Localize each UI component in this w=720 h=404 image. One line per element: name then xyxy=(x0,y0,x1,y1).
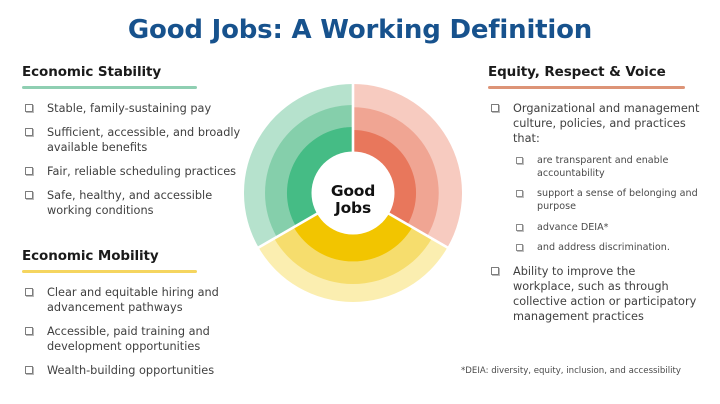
list-item: Fair, reliable scheduling practices xyxy=(22,164,250,179)
list-item-label: Accessible, paid training and developmen… xyxy=(47,325,210,353)
page-title: Good Jobs: A Working Definition xyxy=(0,16,720,45)
list-item-label: are transparent and enable accountabilit… xyxy=(537,155,668,179)
list-item-label: Safe, healthy, and accessible working co… xyxy=(47,189,212,217)
checkbox-bullet-icon xyxy=(25,104,33,112)
section-economic-mobility: Economic Mobility Clear and equitable hi… xyxy=(22,248,250,378)
list-equity-respect-voice: Organizational and management culture, p… xyxy=(488,101,700,324)
list-item: Safe, healthy, and accessible working co… xyxy=(22,188,250,218)
donut-center-hub xyxy=(312,152,395,235)
right-column: Equity, Respect & Voice Organizational a… xyxy=(488,64,700,324)
list-item: Accessible, paid training and developmen… xyxy=(22,324,250,354)
list-item-label: Stable, family-sustaining pay xyxy=(47,102,211,115)
sublist-equity-practices: are transparent and enable accountabilit… xyxy=(513,155,700,255)
list-item-label: support a sense of belonging and purpose xyxy=(537,188,698,212)
checkbox-bullet-icon xyxy=(25,327,33,335)
checkbox-bullet-icon xyxy=(491,267,499,275)
checkbox-bullet-icon xyxy=(491,104,499,112)
list-item-label: Sufficient, accessible, and broadly avai… xyxy=(47,126,240,154)
section-title-equity-respect-voice: Equity, Respect & Voice xyxy=(488,64,700,80)
list-item: are transparent and enable accountabilit… xyxy=(513,155,700,180)
checkbox-bullet-icon xyxy=(516,157,523,164)
list-item: Organizational and management culture, p… xyxy=(488,101,700,255)
section-title-economic-mobility: Economic Mobility xyxy=(22,248,250,264)
list-item: support a sense of belonging and purpose xyxy=(513,188,700,213)
spacer xyxy=(22,218,250,248)
footnote-deia: *DEIA: diversity, equity, inclusion, and… xyxy=(440,366,702,376)
list-item: advance DEIA* xyxy=(513,222,700,235)
list-item-label: and address discrimination. xyxy=(537,242,670,253)
list-item-label: Organizational and management culture, p… xyxy=(513,102,699,145)
section-economic-stability: Economic Stability Stable, family-sustai… xyxy=(22,64,250,218)
checkbox-bullet-icon xyxy=(516,190,523,197)
checkbox-bullet-icon xyxy=(25,167,33,175)
checkbox-bullet-icon xyxy=(25,288,33,296)
checkbox-bullet-icon xyxy=(25,128,33,136)
list-item: Wealth-building opportunities xyxy=(22,363,250,378)
section-rule-orange xyxy=(488,86,685,89)
list-economic-stability: Stable, family-sustaining pay Sufficient… xyxy=(22,101,250,218)
checkbox-bullet-icon xyxy=(25,191,33,199)
list-item-label: Wealth-building opportunities xyxy=(47,364,214,377)
section-title-economic-stability: Economic Stability xyxy=(22,64,250,80)
list-item-label: Clear and equitable hiring and advanceme… xyxy=(47,286,219,314)
list-item: and address discrimination. xyxy=(513,242,700,255)
section-equity-respect-voice: Equity, Respect & Voice Organizational a… xyxy=(488,64,700,324)
list-item-label: Ability to improve the workplace, such a… xyxy=(513,265,696,323)
good-jobs-donut-chart: Good Jobs xyxy=(244,84,462,316)
donut-chart-svg xyxy=(244,84,462,316)
list-item: Stable, family-sustaining pay xyxy=(22,101,250,116)
list-item-label: advance DEIA* xyxy=(537,222,608,233)
list-item: Sufficient, accessible, and broadly avai… xyxy=(22,125,250,155)
list-item: Ability to improve the workplace, such a… xyxy=(488,264,700,324)
checkbox-bullet-icon xyxy=(516,224,523,231)
checkbox-bullet-icon xyxy=(25,366,33,374)
left-column: Economic Stability Stable, family-sustai… xyxy=(22,64,250,378)
list-item: Clear and equitable hiring and advanceme… xyxy=(22,285,250,315)
section-rule-yellow xyxy=(22,270,197,273)
list-economic-mobility: Clear and equitable hiring and advanceme… xyxy=(22,285,250,378)
list-item-label: Fair, reliable scheduling practices xyxy=(47,165,236,178)
section-rule-green xyxy=(22,86,197,89)
checkbox-bullet-icon xyxy=(516,244,523,251)
